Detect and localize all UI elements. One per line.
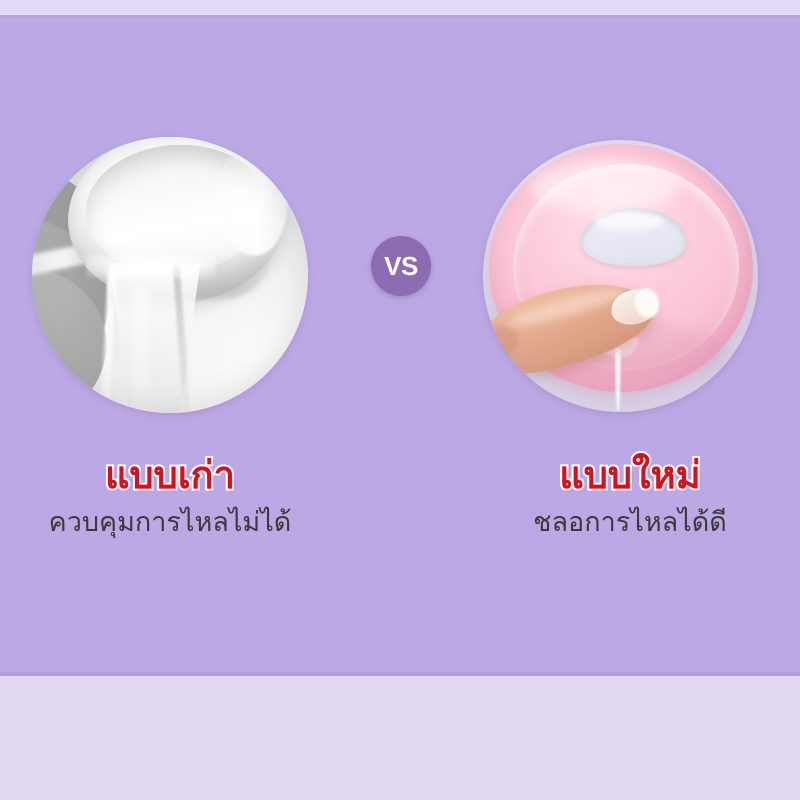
bottom-band <box>0 676 800 800</box>
left-caption-block: แบบเก่า ควบคุมการไหลไม่ได้ <box>0 455 350 539</box>
left-photo-vignette <box>32 137 308 413</box>
top-band-shadow <box>0 15 800 18</box>
right-caption-subtitle: ชลอการไหลได้ดี <box>450 506 800 540</box>
vs-badge: VS <box>371 236 431 296</box>
right-caption-block: แบบใหม่ ชลอการไหลได้ดี <box>450 455 800 539</box>
top-band <box>0 0 800 15</box>
left-product-photo <box>32 137 308 413</box>
right-caption-title: แบบใหม่ <box>450 455 800 498</box>
left-caption-title: แบบเก่า <box>0 455 350 498</box>
right-photo-vignette <box>483 140 758 412</box>
right-product-photo <box>483 140 758 412</box>
left-caption-subtitle: ควบคุมการไหลไม่ได้ <box>0 506 350 540</box>
vs-badge-label: VS <box>384 253 418 279</box>
comparison-poster: VS แบบเก่า ควบคุมการไหลไม่ได้ แบบใหม่ ชล… <box>0 0 800 800</box>
